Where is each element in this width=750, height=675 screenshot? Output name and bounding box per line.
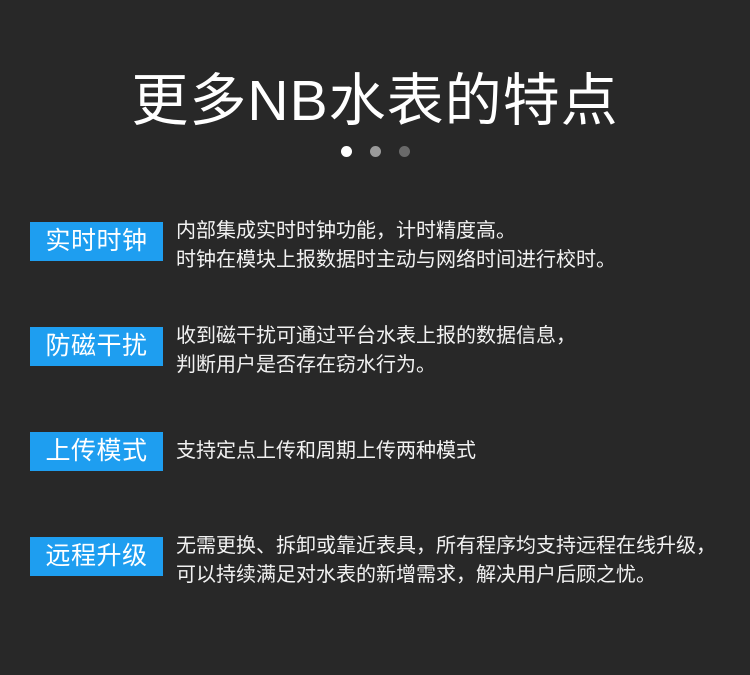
dot-inactive-1-icon[interactable]	[370, 146, 381, 157]
feature-description-line: 无需更换、拆卸或靠近表具，所有程序均支持远程在线升级，	[176, 532, 750, 561]
pagination-dots[interactable]	[0, 145, 750, 157]
feature-description-line: 内部集成实时时钟功能，计时精度高。	[176, 217, 750, 246]
feature-row-anti-magnetic: 防磁干扰 收到磁干扰可通过平台水表上报的数据信息， 判断用户是否存在窃水行为。	[0, 310, 750, 415]
feature-description-line: 收到磁干扰可通过平台水表上报的数据信息，	[176, 322, 750, 351]
feature-description-remote-upgrade: 无需更换、拆卸或靠近表具，所有程序均支持远程在线升级， 可以持续满足对水表的新增…	[163, 520, 750, 590]
feature-row-remote-upgrade: 远程升级 无需更换、拆卸或靠近表具，所有程序均支持远程在线升级， 可以持续满足对…	[0, 520, 750, 625]
feature-description-line: 支持定点上传和周期上传两种模式	[176, 437, 750, 466]
feature-highlight-page: 更多NB水表的特点 实时时钟 内部集成实时时钟功能，计时精度高。 时钟在模块上报…	[0, 0, 750, 675]
feature-description-line: 可以持续满足对水表的新增需求，解决用户后顾之忧。	[176, 561, 750, 590]
feature-badge-anti-magnetic: 防磁干扰	[30, 327, 163, 366]
feature-badge-remote-upgrade: 远程升级	[30, 537, 163, 576]
page-title: 更多NB水表的特点	[0, 0, 750, 136]
feature-badge-realtime-clock: 实时时钟	[30, 222, 163, 261]
feature-description-line: 时钟在模块上报数据时主动与网络时间进行校时。	[176, 246, 750, 275]
feature-badge-upload-mode: 上传模式	[30, 432, 163, 471]
feature-row-realtime-clock: 实时时钟 内部集成实时时钟功能，计时精度高。 时钟在模块上报数据时主动与网络时间…	[0, 205, 750, 310]
feature-row-upload-mode: 上传模式 支持定点上传和周期上传两种模式	[0, 415, 750, 520]
feature-description-realtime-clock: 内部集成实时时钟功能，计时精度高。 时钟在模块上报数据时主动与网络时间进行校时。	[163, 205, 750, 275]
page-header: 更多NB水表的特点	[0, 0, 750, 157]
feature-description-upload-mode: 支持定点上传和周期上传两种模式	[163, 415, 750, 466]
dot-inactive-2-icon[interactable]	[399, 146, 410, 157]
feature-list: 实时时钟 内部集成实时时钟功能，计时精度高。 时钟在模块上报数据时主动与网络时间…	[0, 205, 750, 625]
feature-description-anti-magnetic: 收到磁干扰可通过平台水表上报的数据信息， 判断用户是否存在窃水行为。	[163, 310, 750, 380]
dot-active-icon[interactable]	[341, 146, 352, 157]
feature-description-line: 判断用户是否存在窃水行为。	[176, 351, 750, 380]
